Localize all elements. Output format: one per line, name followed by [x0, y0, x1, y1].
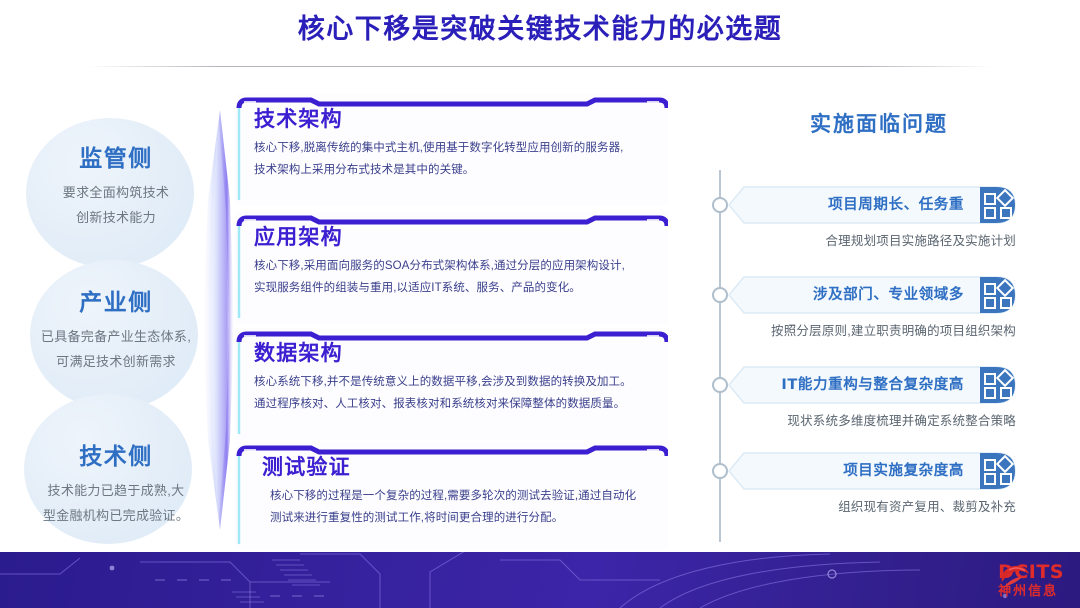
page-title: 核心下移是突破关键技术能力的必选题 — [0, 10, 1080, 50]
card-desc-line: 核心下移的过程是一个复杂的过程,需要多轮次的测试去验证,通过自动化 — [270, 485, 652, 507]
timeline-dot-icon — [712, 377, 728, 393]
timeline-dot-icon — [712, 463, 728, 479]
card-tech-architecture[interactable]: 技术架构 核心下移,脱离传统的集中式主机,使用基于数字化转型应用创新的服务器, … — [236, 94, 668, 206]
left-group-line: 要求全面构筑技术 — [10, 180, 222, 205]
card-desc-line: 通过程序核对、人工核对、报表核对和系统核对来保障整体的数据质量。 — [254, 393, 652, 415]
left-group-industry: 产业侧 已具备完备产业生态体系, 可满足技术创新需求 — [0, 288, 232, 374]
left-group-heading: 技术侧 — [0, 442, 232, 472]
left-panel: 监管侧 要求全面构筑技术 创新技术能力 产业侧 已具备完备产业生态体系, 可满足… — [0, 92, 232, 532]
card-desc-line: 测试来进行重复性的测试工作,将时间更合理的进行分配。 — [270, 507, 652, 529]
card-data-architecture[interactable]: 数据架构 核心系统下移,并不是传统意义上的数据平移,会涉及到数据的转换及加工。 … — [236, 328, 668, 440]
issue-pill[interactable]: 项目周期长、任务重 — [728, 186, 1016, 224]
card-title: 应用架构 — [254, 223, 652, 251]
company-logo: DCITS 神州信息 — [998, 561, 1064, 599]
timeline-dot-icon — [712, 197, 728, 213]
shapes-grid-icon — [980, 366, 1034, 404]
swirl-logo-icon — [998, 561, 1032, 591]
page-title-wrap: 核心下移是突破关键技术能力的必选题 — [0, 10, 1080, 50]
shapes-grid-icon — [980, 276, 1034, 314]
issue-sub: 现状系统多维度梳理并确定系统整合策略 — [728, 410, 1020, 429]
left-group-line: 已具备完备产业生态体系, — [10, 324, 222, 349]
issue-sub: 组织现有资产复用、裁剪及补充 — [728, 496, 1020, 515]
issue-pill[interactable]: 涉及部门、专业领域多 — [728, 276, 1016, 314]
card-desc-line: 实现服务组件的组装与重用,以适应IT系统、服务、产品的变化。 — [254, 277, 652, 299]
left-group-heading: 产业侧 — [0, 288, 232, 318]
card-desc-line: 核心系统下移,并不是传统意义上的数据平移,会涉及到数据的转换及加工。 — [254, 371, 652, 393]
timeline-axis — [719, 170, 721, 542]
card-application-architecture[interactable]: 应用架构 核心下移,采用面向服务的SOA分布式架构体系,通过分层的应用架构设计,… — [236, 212, 668, 324]
card-title: 测试验证 — [262, 453, 652, 481]
card-title: 技术架构 — [254, 105, 652, 133]
slide-root: 核心下移是突破关键技术能力的必选题 监管侧 要求全面构筑技术 创新技术能力 产业… — [0, 0, 1080, 608]
card-test-verification[interactable]: 测试验证 核心下移的过程是一个复杂的过程,需要多轮次的测试去验证,通过自动化 测… — [236, 442, 668, 550]
left-group-line: 型金融机构已完成验证。 — [10, 503, 222, 528]
left-group-technology: 技术侧 技术能力已趋于成熟,大 型金融机构已完成验证。 — [0, 442, 232, 528]
left-group-line: 创新技术能力 — [10, 205, 222, 230]
card-desc-line: 核心下移,脱离传统的集中式主机,使用基于数字化转型应用创新的服务器, — [254, 137, 652, 159]
left-group-line: 可满足技术创新需求 — [10, 349, 222, 374]
shapes-grid-icon — [980, 452, 1034, 490]
center-cards: 技术架构 核心下移,脱离传统的集中式主机,使用基于数字化转型应用创新的服务器, … — [236, 94, 684, 542]
timeline-dot-icon — [712, 287, 728, 303]
issue-label: 涉及部门、专业领域多 — [736, 276, 972, 314]
card-desc-line: 核心下移,采用面向服务的SOA分布式架构体系,通过分层的应用架构设计, — [254, 255, 652, 277]
footer-band: DCITS 神州信息 — [0, 552, 1080, 608]
title-divider — [88, 66, 992, 67]
issue-pill[interactable]: IT能力重构与整合复杂度高 — [728, 366, 1016, 404]
issue-sub: 合理规划项目实施路径及实施计划 — [728, 230, 1020, 249]
issue-sub: 按照分层原则,建立职责明确的项目组织架构 — [728, 320, 1020, 339]
card-title: 数据架构 — [254, 339, 652, 367]
issue-pill[interactable]: 项目实施复杂度高 — [728, 452, 1016, 490]
right-panel-heading: 实施面临问题 — [700, 108, 1058, 138]
right-panel: 实施面临问题 项目周期长、任务重 合理规划项目实施路径及实施计划 — [700, 100, 1080, 540]
left-group-regulatory: 监管侧 要求全面构筑技术 创新技术能力 — [0, 144, 232, 230]
circuit-decoration-icon — [0, 552, 1080, 608]
left-group-heading: 监管侧 — [0, 144, 232, 174]
left-group-line: 技术能力已趋于成熟,大 — [10, 478, 222, 503]
issue-label: 项目实施复杂度高 — [736, 452, 972, 490]
card-desc-line: 技术架构上采用分布式技术是其中的关键。 — [254, 159, 652, 181]
shapes-grid-icon — [980, 186, 1034, 224]
issue-label: IT能力重构与整合复杂度高 — [736, 366, 972, 404]
issue-label: 项目周期长、任务重 — [736, 186, 972, 224]
